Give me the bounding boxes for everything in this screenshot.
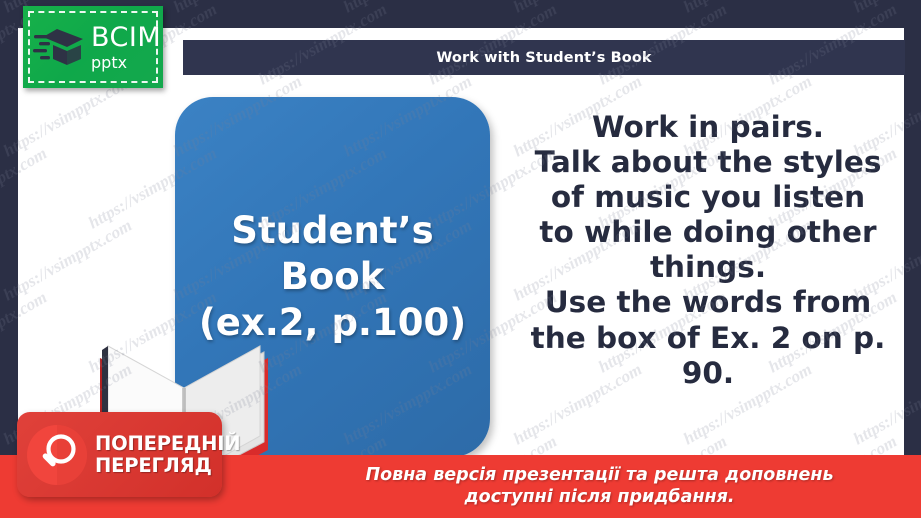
magnifier-icon bbox=[26, 424, 88, 486]
slide-root: Student’s Book (ex.2, p.100) Work in pai… bbox=[0, 0, 921, 518]
watermark-text: https://vsimpptx.com bbox=[510, 0, 646, 17]
preview-badge-line-2: ПЕРЕГЛЯД bbox=[95, 455, 240, 476]
header-bar: Work with Student’s Book bbox=[183, 40, 905, 75]
instruction-line-6: Use the words from bbox=[508, 285, 908, 320]
header-title: Work with Student’s Book bbox=[436, 50, 651, 66]
banner-line-1: Повна версія презентації та решта доповн… bbox=[282, 465, 917, 487]
preview-badge-label: ПОПЕРЕДНІЙ ПЕРЕГЛЯД bbox=[95, 433, 240, 475]
watermark-text: https://vsimpptx.com bbox=[170, 0, 306, 17]
instruction-line-1: Work in pairs. bbox=[508, 110, 908, 145]
preview-badge-line-1: ПОПЕРЕДНІЙ bbox=[95, 433, 240, 454]
banner-line-2: доступні після придбання. bbox=[282, 487, 917, 509]
instruction-text: Work in pairs. Talk about the styles of … bbox=[508, 110, 908, 391]
instruction-line-4: to while doing other bbox=[508, 215, 908, 250]
watermark-text: https://vsimpptx.com bbox=[850, 0, 921, 17]
watermark-text: https://vsimpptx.com bbox=[340, 0, 476, 17]
purchase-banner-text: Повна версія презентації та решта доповн… bbox=[282, 465, 917, 508]
preview-badge[interactable]: ПОПЕРЕДНІЙ ПЕРЕГЛЯД bbox=[17, 412, 222, 497]
instruction-line-8: 90. bbox=[508, 356, 908, 391]
instruction-line-3: of music you listen bbox=[508, 180, 908, 215]
student-book-card-label: Student’s Book (ex.2, p.100) bbox=[193, 208, 472, 346]
watermark-text: https://vsimpptx.com bbox=[680, 0, 816, 17]
instruction-line-5: things. bbox=[508, 250, 908, 285]
instruction-line-2: Talk about the styles bbox=[508, 145, 908, 180]
card-line-1: Student’s bbox=[199, 208, 466, 254]
instruction-line-7: the box of Ex. 2 on p. bbox=[508, 321, 908, 356]
logo-primary-text: BCIM bbox=[91, 24, 161, 51]
graduation-cap-icon bbox=[33, 19, 89, 75]
logo-secondary-text: pptx bbox=[91, 55, 161, 71]
card-line-2: Book bbox=[199, 254, 466, 300]
bcim-pptx-logo[interactable]: BCIM pptx bbox=[23, 6, 163, 88]
